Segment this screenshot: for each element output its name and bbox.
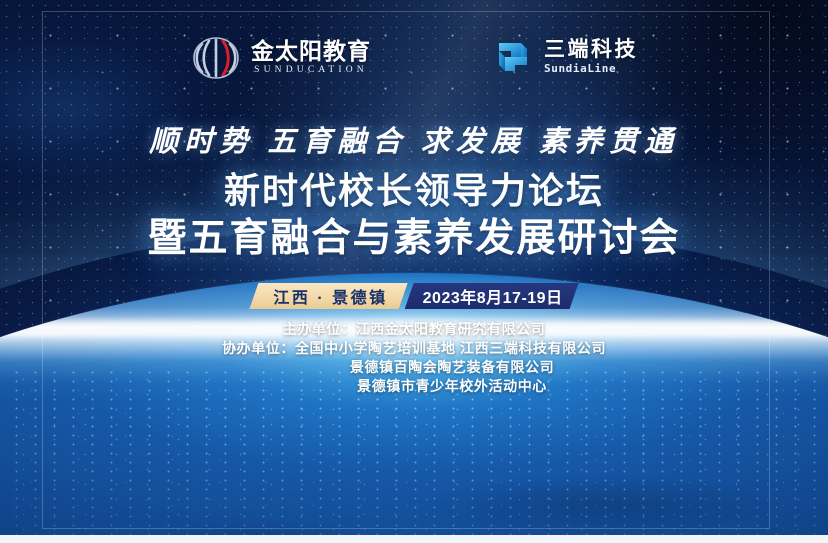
logo-sunducation: 金太阳教育 SUNDUCATION [190,34,371,82]
sundialine-name-cn: 三端科技 [544,39,638,61]
logo-row: 金太阳教育 SUNDUCATION [0,34,828,82]
poster-content: 金太阳教育 SUNDUCATION [0,0,828,543]
sunducation-wordmark: 金太阳教育 SUNDUCATION [251,39,371,77]
location-badge: 江西 · 景德镇 [249,283,407,309]
organizer-line: 主办单位：江西金太阳教育研究有限公司 [0,320,828,339]
sunducation-circle-logo-icon [190,34,242,82]
sundialine-name-en: SundiaLine [544,61,638,78]
title-block: 新时代校长领导力论坛 暨五育融合与素养发展研讨会 [0,170,828,262]
title-line-2: 暨五育融合与素养发展研讨会 [0,216,828,262]
title-line-1: 新时代校长领导力论坛 [0,170,828,212]
organizer-line: 协办单位：全国中小学陶艺培训基地 江西三端科技有限公司 [0,339,828,358]
sundialine-wordmark: 三端科技 SundiaLine [544,39,638,78]
conference-poster: 金太阳教育 SUNDUCATION [0,0,828,543]
slogan: 顺时势 五育融合 求发展 素养贯通 [0,118,828,160]
sundialine-s-cylinder-logo-icon [491,35,535,81]
event-info-badges: 江西 · 景德镇 2023年8月17-19日 [0,283,828,309]
organizers-block: 主办单位：江西金太阳教育研究有限公司 协办单位：全国中小学陶艺培训基地 江西三端… [0,320,828,396]
organizer-line: 景德镇百陶会陶艺装备有限公司 [0,358,828,377]
sunducation-name-en: SUNDUCATION [251,63,371,77]
organizer-line: 景德镇市青少年校外活动中心 [0,377,828,396]
logo-sundialine: 三端科技 SundiaLine [491,35,638,81]
date-badge: 2023年8月17-19日 [405,283,579,309]
sunducation-name-cn: 金太阳教育 [251,39,371,63]
